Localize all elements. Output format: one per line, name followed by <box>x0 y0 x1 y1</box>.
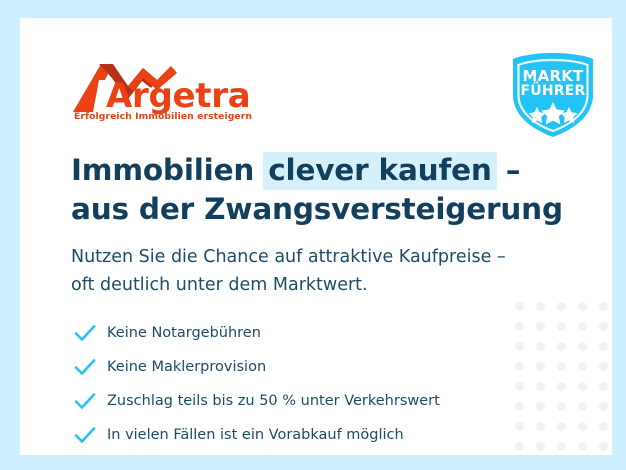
grid-dot <box>536 342 545 351</box>
argetra-logo[interactable]: Argetra Erfolgreich Immobilien ersteiger… <box>73 62 273 128</box>
grid-dot <box>599 422 608 431</box>
grid-dot <box>515 342 524 351</box>
grid-dot <box>578 402 587 411</box>
grid-dot <box>515 302 524 311</box>
grid-dot <box>515 422 524 431</box>
grid-dot <box>557 342 566 351</box>
grid-dot <box>557 442 566 451</box>
benefits-checklist: Keine Notargebühren Keine Maklerprovisio… <box>73 316 440 452</box>
list-item-label: Keine Notargebühren <box>107 325 261 341</box>
subheadline-line-2: oft deutlich unter dem Marktwert. <box>71 271 506 299</box>
grid-dot <box>599 302 608 311</box>
headline-highlight: clever kaufen <box>263 152 496 190</box>
decorative-dot-grid <box>515 302 612 455</box>
promo-card: Argetra Erfolgreich Immobilien ersteiger… <box>20 18 612 455</box>
grid-dot <box>578 362 587 371</box>
grid-dot <box>557 302 566 311</box>
list-item: Zuschlag teils bis zu 50 % unter Verkehr… <box>73 384 440 418</box>
check-icon <box>73 389 97 413</box>
grid-dot <box>599 402 608 411</box>
grid-dot <box>536 402 545 411</box>
list-item-label: Zuschlag teils bis zu 50 % unter Verkehr… <box>107 393 440 409</box>
grid-dot <box>557 402 566 411</box>
grid-dot <box>578 442 587 451</box>
check-icon <box>73 355 97 379</box>
grid-dot <box>515 442 524 451</box>
logo-tagline: Erfolgreich Immobilien ersteigern <box>74 111 252 122</box>
headline-line-2: aus der Zwangsversteigerung <box>71 190 563 229</box>
grid-dot <box>557 322 566 331</box>
headline-text-pre: Immobilien <box>71 153 264 187</box>
subheadline-line-1: Nutzen Sie die Chance auf attraktive Kau… <box>71 243 506 271</box>
grid-dot <box>557 422 566 431</box>
grid-dot <box>536 362 545 371</box>
grid-dot <box>515 362 524 371</box>
grid-dot <box>515 322 524 331</box>
shield-badge-icon <box>507 51 599 139</box>
grid-dot <box>578 342 587 351</box>
subheadline: Nutzen Sie die Chance auf attraktive Kau… <box>71 243 506 300</box>
grid-dot <box>536 442 545 451</box>
headline-text-post: – <box>496 153 521 187</box>
grid-dot <box>599 342 608 351</box>
headline: Immobilien clever kaufen – aus der Zwang… <box>71 151 563 229</box>
grid-dot <box>578 382 587 391</box>
grid-dot <box>599 382 608 391</box>
list-item-label: In vielen Fällen ist ein Vorabkauf mögli… <box>107 427 404 443</box>
grid-dot <box>515 382 524 391</box>
headline-line-1: Immobilien clever kaufen – <box>71 151 563 190</box>
list-item: In vielen Fällen ist ein Vorabkauf mögli… <box>73 418 440 452</box>
check-icon <box>73 423 97 447</box>
check-icon <box>73 321 97 345</box>
logo-wordmark: Argetra <box>106 76 250 116</box>
grid-dot <box>599 362 608 371</box>
grid-dot <box>578 302 587 311</box>
list-item-label: Keine Maklerprovision <box>107 359 266 375</box>
grid-dot <box>557 362 566 371</box>
grid-dot <box>599 322 608 331</box>
grid-dot <box>515 402 524 411</box>
grid-dot <box>599 442 608 451</box>
grid-dot <box>536 302 545 311</box>
list-item: Keine Maklerprovision <box>73 350 440 384</box>
grid-dot <box>578 422 587 431</box>
grid-dot <box>536 422 545 431</box>
grid-dot <box>536 382 545 391</box>
grid-dot <box>578 322 587 331</box>
grid-dot <box>536 322 545 331</box>
grid-dot <box>557 382 566 391</box>
list-item: Keine Notargebühren <box>73 316 440 350</box>
market-leader-badge: MARKT FÜHRER <box>507 51 599 139</box>
